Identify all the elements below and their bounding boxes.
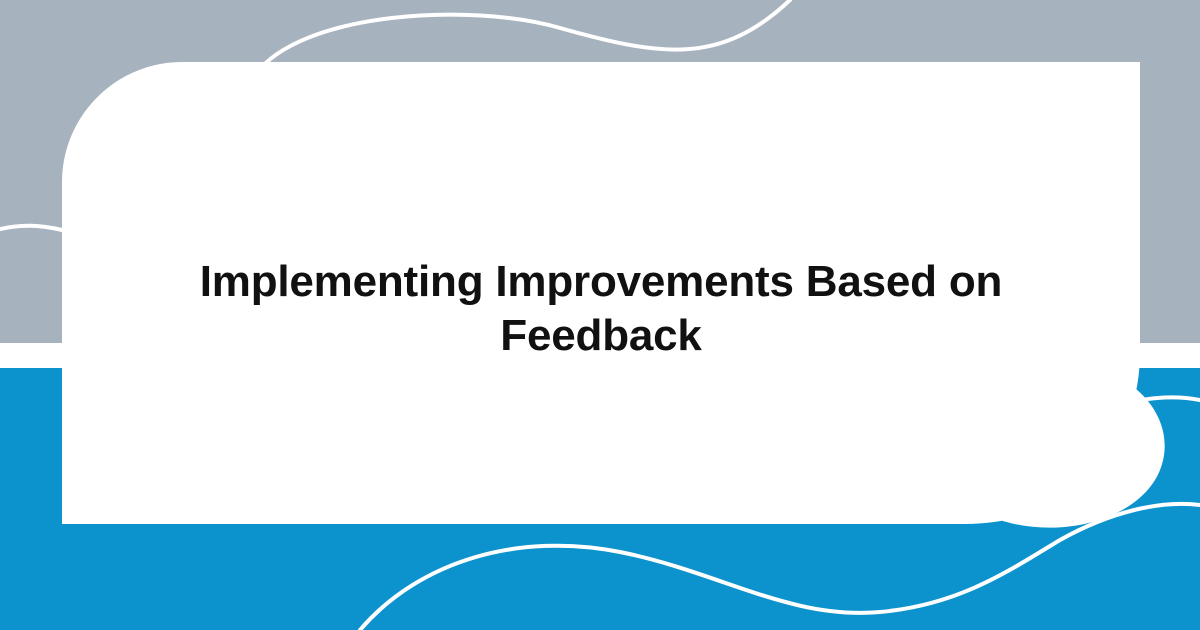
title-container: Implementing Improvements Based on Feedb… bbox=[62, 255, 1140, 363]
social-card-banner: Implementing Improvements Based on Feedb… bbox=[0, 0, 1200, 630]
page-title: Implementing Improvements Based on Feedb… bbox=[191, 255, 1011, 363]
